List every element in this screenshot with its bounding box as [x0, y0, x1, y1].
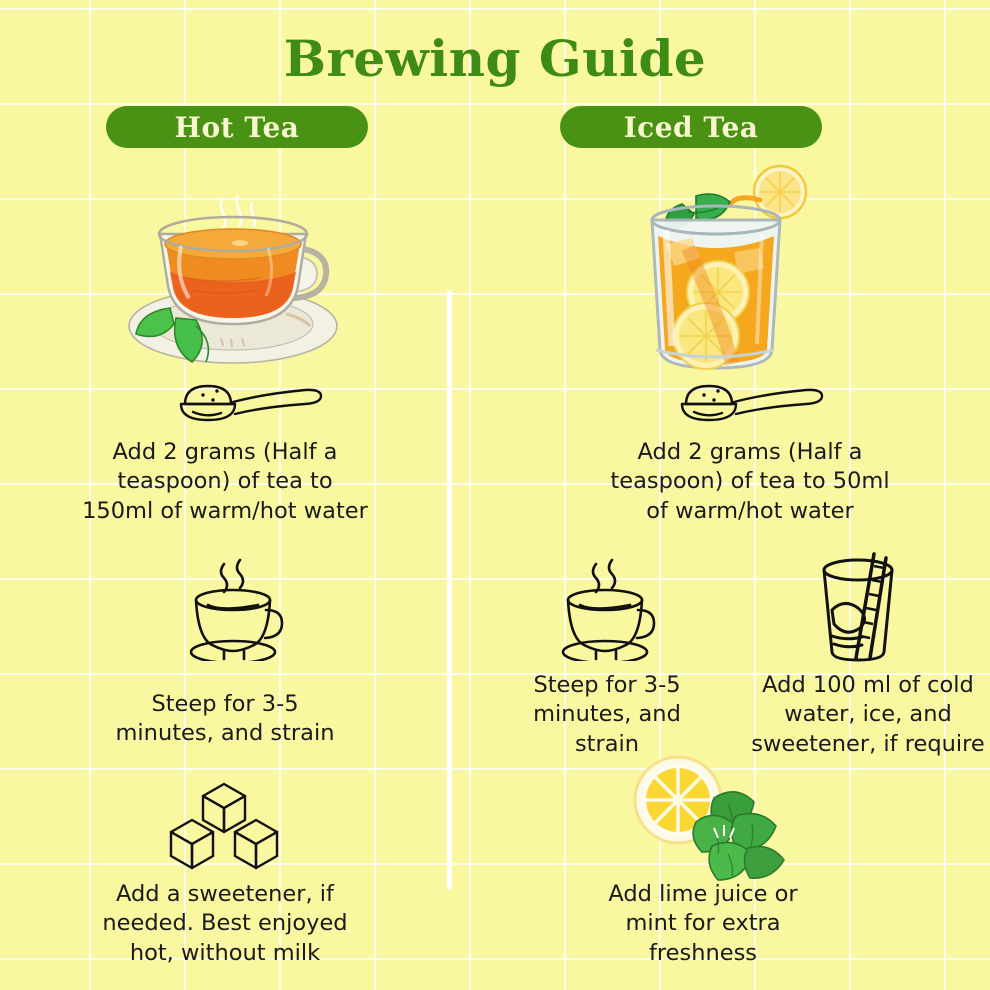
hot-tea-cup-illustration — [118, 186, 348, 374]
iced-tea-glass-illustration — [626, 152, 826, 380]
lemon-mint-illustration — [618, 752, 798, 882]
column-hot-tea: Add 2 grams (Half a teaspoon) of tea to … — [0, 0, 447, 990]
column-iced-tea: Add 2 grams (Half a teaspoon) of tea to … — [452, 0, 990, 990]
measuring-spoon-icon — [173, 374, 323, 426]
step-text-hot-1: Add 2 grams (Half a teaspoon) of tea to … — [40, 438, 410, 526]
steaming-cup-icon — [550, 556, 662, 661]
steaming-cup-icon — [178, 556, 290, 661]
sugar-cubes-icon — [163, 778, 285, 870]
measuring-spoon-icon — [674, 374, 824, 426]
brewing-guide-poster: Brewing Guide Hot Tea Iced Tea — [0, 0, 990, 990]
step-text-iced-2: Steep for 3-5 minutes, and strain — [478, 671, 736, 759]
step-text-hot-2: Steep for 3-5 minutes, and strain — [60, 690, 390, 749]
step-text-iced-3: Add 100 ml of cold water, ice, and sweet… — [742, 671, 990, 759]
step-text-iced-4: Add lime juice or mint for extra freshne… — [558, 880, 848, 968]
glass-with-straw-icon — [812, 552, 916, 664]
step-text-iced-1: Add 2 grams (Half a teaspoon) of tea to … — [560, 438, 940, 526]
step-text-hot-3: Add a sweetener, if needed. Best enjoyed… — [40, 880, 410, 968]
